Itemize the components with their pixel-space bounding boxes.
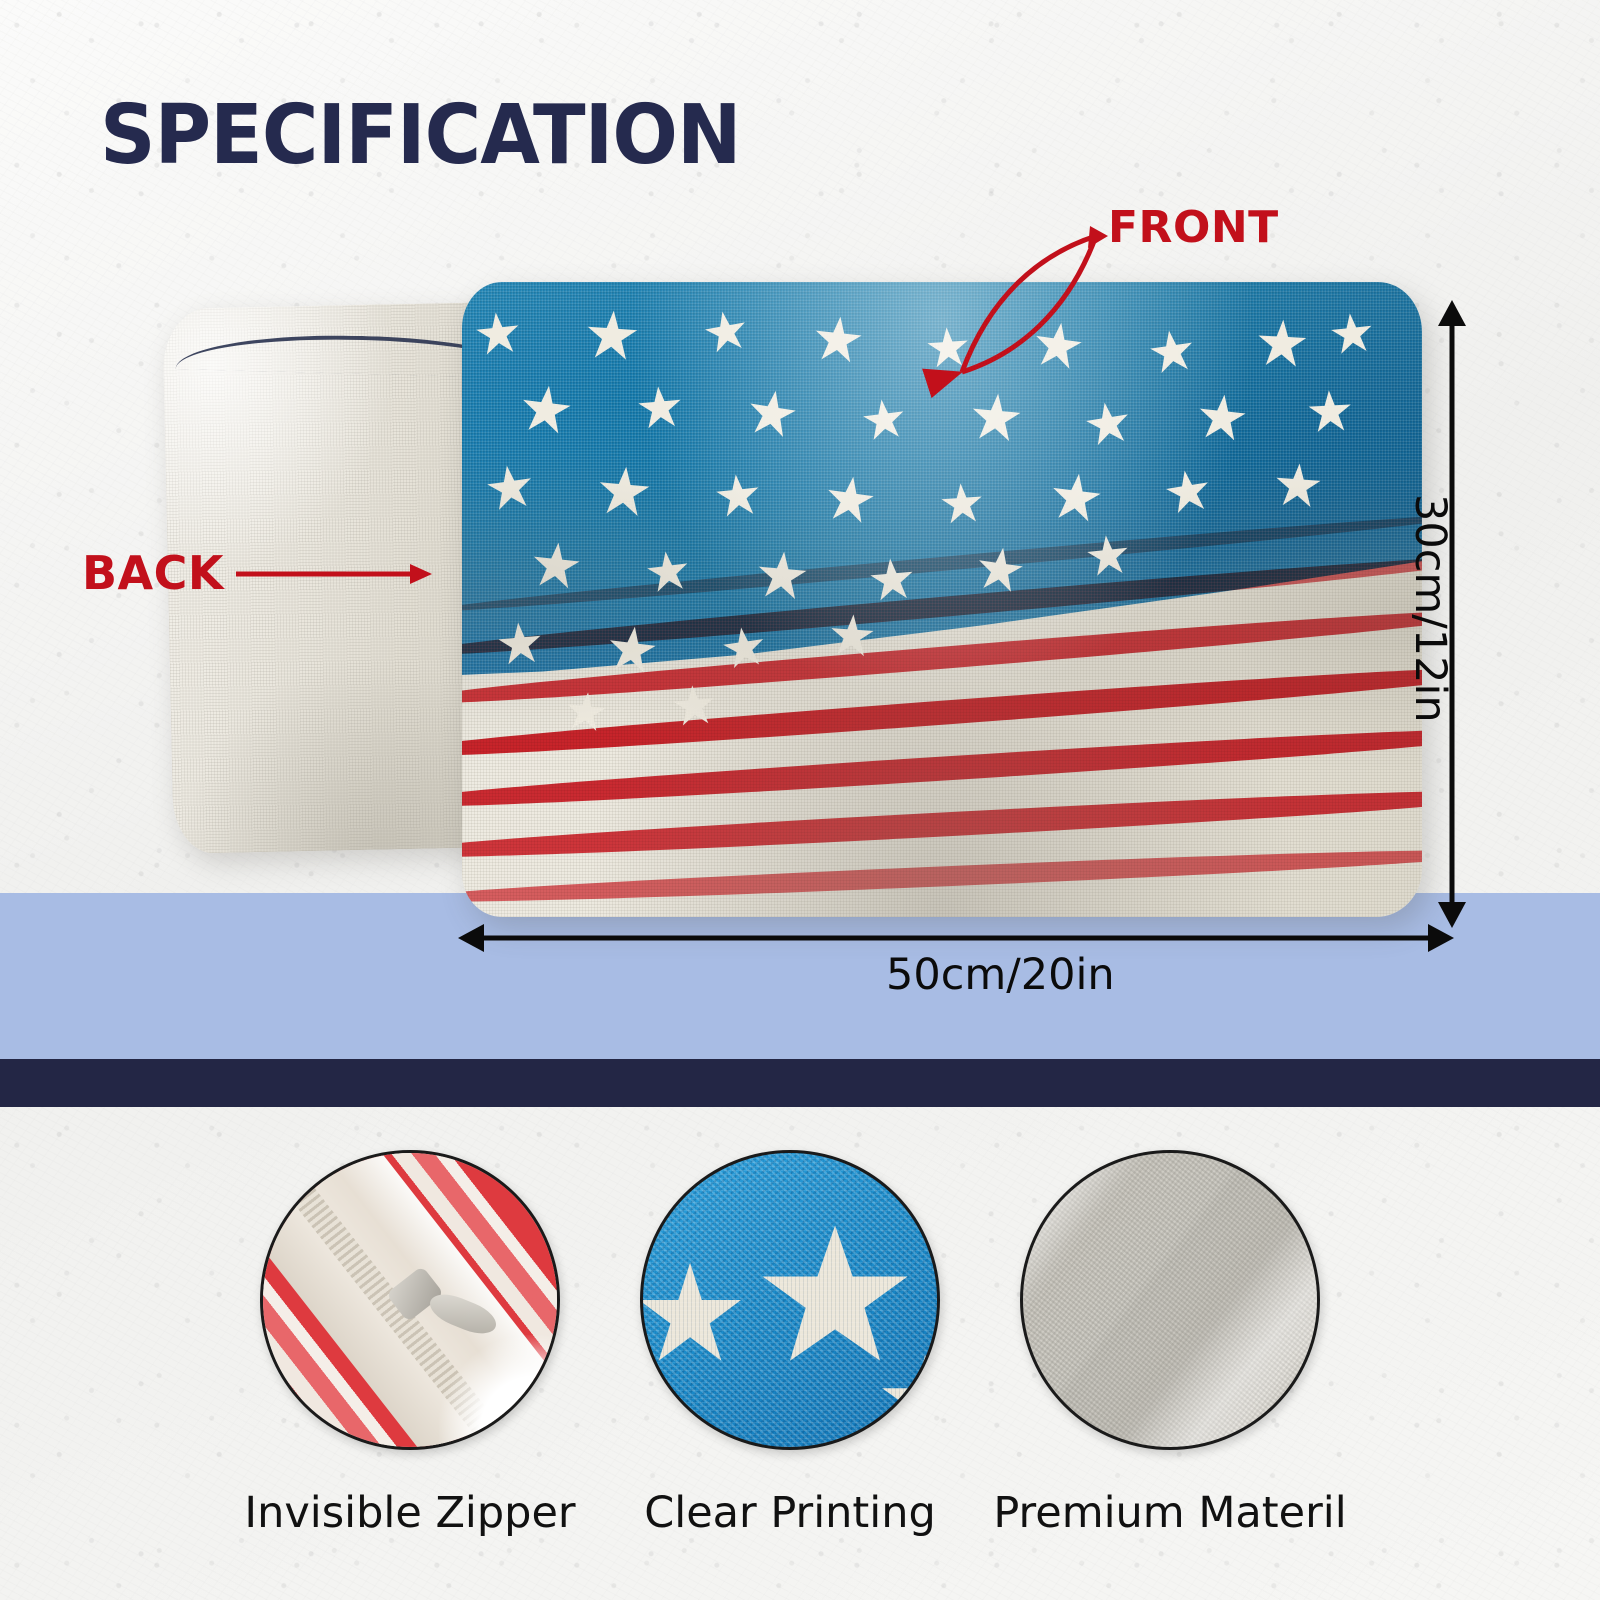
flag-star-icon (1195, 391, 1250, 446)
zipper-detail-circle (260, 1150, 560, 1450)
flag-star-icon (811, 313, 866, 368)
flag-star-icon (859, 395, 908, 444)
flag-star-icon (867, 555, 917, 605)
flag-star-icon (1272, 460, 1323, 511)
back-callout-label: BACK (82, 546, 224, 600)
flag-star-icon (973, 543, 1027, 597)
dark-navy-divider-band (0, 1059, 1600, 1107)
flag-star-icon (754, 548, 810, 604)
flag-star-icon (827, 611, 876, 660)
flag-star-icon (517, 381, 575, 439)
flag-star-icon (1328, 310, 1376, 358)
feature-label-invisible-zipper: Invisible Zipper (200, 1488, 620, 1538)
flag-star-icon (1082, 398, 1135, 451)
page-title: SPECIFICATION (100, 88, 741, 183)
flag-star-icon (635, 383, 685, 433)
flag-star-icon (1146, 326, 1198, 378)
height-dimension-label: 30cm/12in (1405, 494, 1455, 723)
flag-star-icon (595, 463, 654, 522)
flag-star-icon (968, 390, 1024, 446)
specification-page: SPECIFICATION FRONT BACK 50cm/20in 30cm/… (0, 0, 1600, 1600)
flag-star-icon (713, 471, 764, 522)
flag-star-icon (670, 682, 718, 730)
flag-star-icon (719, 623, 769, 673)
flag-star-icon (1030, 318, 1086, 374)
flag-star-icon (1162, 466, 1215, 519)
flag-star-icon (925, 325, 972, 372)
flag-star-icon (1255, 317, 1310, 372)
flag-star-icon (822, 472, 878, 528)
flag-star-icon (583, 307, 641, 365)
feature-label-premium-materil: Premium Materil (960, 1488, 1380, 1538)
feature-label-clear-printing: Clear Printing (580, 1488, 1000, 1538)
flag-star-icon (483, 461, 537, 515)
flag-star-icon (743, 385, 800, 442)
flag-white-stars (462, 282, 1422, 917)
light-blue-divider-band (0, 893, 1600, 1059)
flag-star-icon (473, 309, 524, 360)
flag-star-icon (1084, 532, 1132, 580)
width-dimension-label: 50cm/20in (886, 950, 1115, 1000)
flag-star-icon (604, 622, 660, 678)
flag-star-icon (563, 689, 609, 735)
flag-star-icon (643, 547, 692, 596)
pillow-front-image (462, 282, 1422, 917)
flag-star-icon (529, 539, 584, 594)
flag-star-icon (1047, 469, 1105, 527)
flag-star-icon (495, 619, 545, 669)
front-callout-label: FRONT (1108, 202, 1279, 253)
printing-detail-circle (640, 1150, 940, 1450)
flag-star-icon (939, 481, 986, 528)
flag-star-icon (1306, 388, 1354, 436)
flag-star-icon (701, 307, 752, 358)
material-detail-circle (1020, 1150, 1320, 1450)
